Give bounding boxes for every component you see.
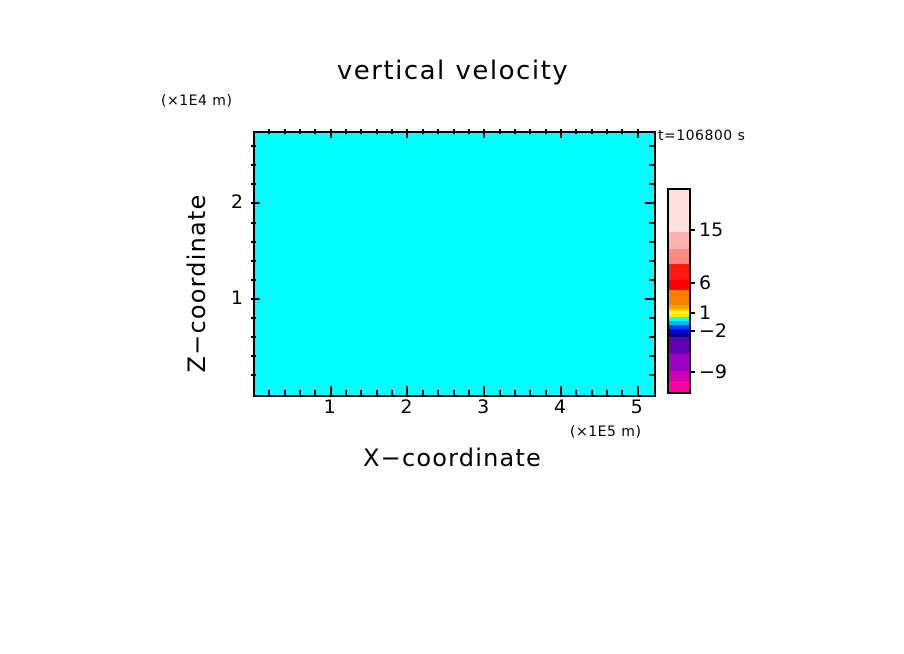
x-major-tick-top: [483, 129, 485, 138]
colorbar: [667, 188, 691, 394]
y-minor-tick-right: [649, 241, 654, 243]
x-tick-label: 3: [477, 396, 489, 418]
y-minor-tick: [251, 374, 256, 376]
y-minor-tick: [251, 336, 256, 338]
x-minor-tick-top: [529, 129, 531, 134]
y-axis-title-text: Z−coordinate: [183, 194, 211, 373]
x-minor-tick-top: [268, 129, 270, 134]
colorbar-band: [669, 290, 689, 305]
y-minor-tick: [251, 164, 256, 166]
x-major-tick: [483, 386, 485, 395]
colorbar-band: [669, 264, 689, 280]
colorbar-tick: [689, 312, 695, 314]
x-tick-label: 5: [631, 396, 643, 418]
y-minor-tick: [251, 260, 256, 262]
y-minor-tick: [251, 317, 256, 319]
x-minor-tick-top: [499, 129, 501, 134]
x-minor-tick-top: [591, 129, 593, 134]
colorbar-tick: [689, 282, 695, 284]
y-minor-tick-right: [649, 145, 654, 147]
y-minor-tick-right: [649, 336, 654, 338]
y-major-tick: [251, 202, 260, 204]
x-minor-tick-top: [545, 129, 547, 134]
y-tick-label: 1: [221, 287, 243, 309]
y-axis-title: Z−coordinate: [185, 173, 209, 393]
x-major-tick: [330, 386, 332, 395]
x-minor-tick-top: [314, 129, 316, 134]
x-minor-tick: [514, 390, 516, 395]
y-minor-tick-right: [649, 222, 654, 224]
x-minor-tick: [621, 390, 623, 395]
colorbar-band: [669, 249, 689, 264]
x-major-tick: [560, 386, 562, 395]
x-minor-tick-top: [621, 129, 623, 134]
y-minor-tick-right: [649, 183, 654, 185]
x-minor-tick-top: [422, 129, 424, 134]
colorbar-band: [669, 381, 689, 392]
y-minor-tick: [251, 222, 256, 224]
y-minor-tick-right: [649, 355, 654, 357]
x-major-tick: [406, 386, 408, 395]
x-minor-tick-top: [391, 129, 393, 134]
page-title: vertical velocity: [253, 56, 653, 86]
y-major-tick-right: [645, 298, 654, 300]
colorbar-band: [669, 354, 689, 371]
x-major-tick-top: [406, 129, 408, 138]
colorbar-tick: [689, 229, 695, 231]
x-minor-tick-top: [284, 129, 286, 134]
x-minor-tick: [422, 390, 424, 395]
x-minor-tick: [468, 390, 470, 395]
y-minor-tick-right: [649, 164, 654, 166]
heatmap-canvas: [255, 133, 654, 395]
colorbar-band: [669, 280, 689, 290]
x-minor-tick: [453, 390, 455, 395]
y-minor-tick: [251, 355, 256, 357]
x-minor-tick: [437, 390, 439, 395]
x-minor-tick-top: [437, 129, 439, 134]
x-minor-tick: [299, 390, 301, 395]
x-minor-tick: [529, 390, 531, 395]
plot-area: [253, 131, 656, 397]
y-axis-unit-label: (×1E4 m): [161, 93, 232, 109]
y-minor-tick: [251, 145, 256, 147]
x-major-tick-top: [637, 129, 639, 138]
x-minor-tick-top: [468, 129, 470, 134]
x-minor-tick: [376, 390, 378, 395]
y-minor-tick: [251, 241, 256, 243]
x-minor-tick: [345, 390, 347, 395]
colorbar-tick-label: −2: [699, 320, 727, 342]
x-minor-tick-top: [514, 129, 516, 134]
x-minor-tick: [606, 390, 608, 395]
x-minor-tick: [575, 390, 577, 395]
figure-canvas: vertical velocity (×1E4 m) t=106800 s 12…: [0, 0, 904, 654]
colorbar-tick: [689, 371, 695, 373]
colorbar-band: [669, 337, 689, 354]
x-minor-tick: [284, 390, 286, 395]
y-minor-tick-right: [649, 317, 654, 319]
colorbar-tick: [689, 330, 695, 332]
x-minor-tick: [268, 390, 270, 395]
y-minor-tick: [251, 183, 256, 185]
x-minor-tick: [591, 390, 593, 395]
y-major-tick-right: [645, 202, 654, 204]
y-minor-tick: [251, 279, 256, 281]
y-tick-label: 2: [221, 191, 243, 213]
x-axis-title: X−coordinate: [253, 444, 652, 472]
colorbar-band: [669, 190, 689, 232]
colorbar-band: [669, 232, 689, 250]
x-tick-label: 4: [554, 396, 566, 418]
x-minor-tick: [314, 390, 316, 395]
x-minor-tick-top: [360, 129, 362, 134]
x-minor-tick: [360, 390, 362, 395]
x-minor-tick-top: [345, 129, 347, 134]
y-minor-tick-right: [649, 260, 654, 262]
x-tick-label: 2: [400, 396, 412, 418]
x-minor-tick: [391, 390, 393, 395]
colorbar-tick-label: 6: [699, 272, 711, 294]
x-tick-label: 1: [324, 396, 336, 418]
y-major-tick: [251, 298, 260, 300]
x-minor-tick-top: [606, 129, 608, 134]
x-minor-tick-top: [299, 129, 301, 134]
y-minor-tick-right: [649, 279, 654, 281]
x-major-tick-top: [330, 129, 332, 138]
x-minor-tick: [545, 390, 547, 395]
time-annotation: t=106800 s: [658, 128, 745, 144]
x-major-tick-top: [560, 129, 562, 138]
x-axis-unit-label: (×1E5 m): [570, 424, 641, 440]
colorbar-tick-label: −9: [699, 361, 727, 383]
x-minor-tick-top: [575, 129, 577, 134]
x-minor-tick: [499, 390, 501, 395]
x-minor-tick-top: [453, 129, 455, 134]
x-major-tick: [637, 386, 639, 395]
colorbar-tick-label: 15: [699, 219, 723, 241]
x-minor-tick-top: [376, 129, 378, 134]
y-minor-tick-right: [649, 374, 654, 376]
colorbar-band: [669, 371, 689, 382]
